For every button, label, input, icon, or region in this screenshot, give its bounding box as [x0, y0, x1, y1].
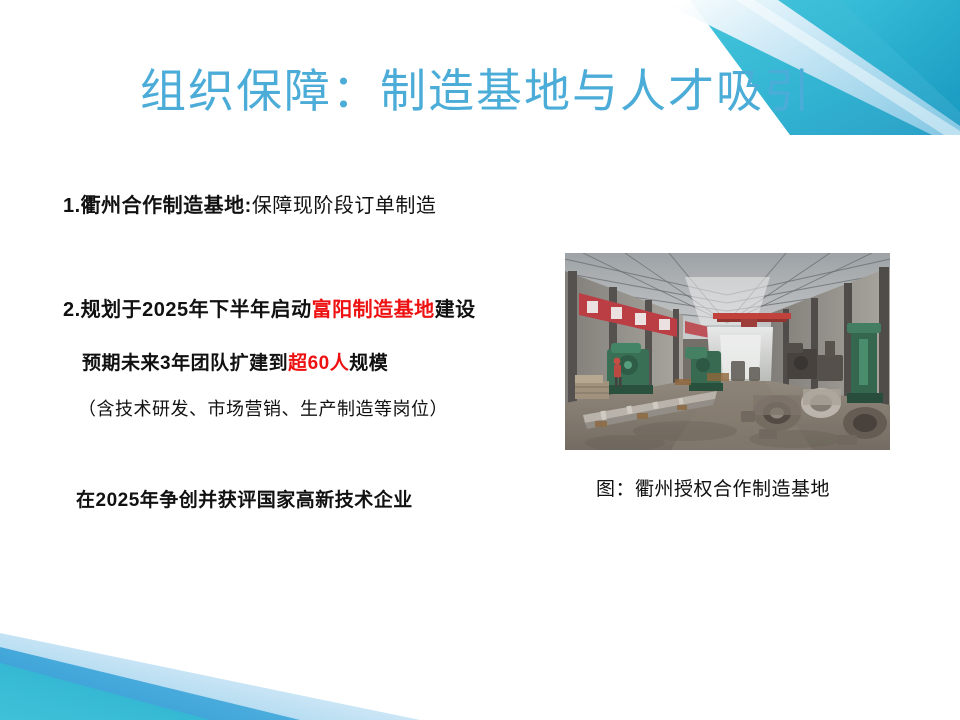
bullet-2-highlight: 富阳制造基地: [312, 299, 435, 321]
bullet-line-1: 1.衢州合作制造基地:保障现阶段订单制造: [63, 194, 436, 219]
bullet-line-4: （含技术研发、市场营销、生产制造等岗位）: [78, 398, 448, 421]
bullet-2-part-b: 建设: [435, 299, 476, 321]
photo-caption: 图：衢州授权合作制造基地: [596, 474, 830, 501]
slide-canvas: 组织保障：制造基地与人才吸引 1.衢州合作制造基地:保障现阶段订单制造 2.规划…: [0, 0, 960, 720]
bullet-1-bold-prefix: 1.衢州合作制造基地:: [63, 195, 252, 217]
factory-workshop-photo: [565, 253, 890, 450]
page-title: 组织保障：制造基地与人才吸引: [140, 64, 812, 119]
diagonal-ribbon-bottom-left-icon: [0, 585, 420, 720]
bullet-3-part-a: 预期未来3年团队扩建到: [82, 353, 288, 374]
bullet-line-3: 预期未来3年团队扩建到超60人规模: [82, 352, 388, 376]
bullet-line-5: 在2025年争创并获评国家高新技术企业: [76, 489, 413, 513]
bullet-3-part-b: 规模: [349, 353, 388, 374]
bullet-2-part-a: 2.规划于2025年下半年启动: [63, 299, 312, 321]
bullet-1-normal-rest: 保障现阶段订单制造: [252, 195, 437, 217]
bullet-3-highlight: 超60人: [288, 353, 349, 374]
bullet-line-2: 2.规划于2025年下半年启动富阳制造基地建设: [63, 298, 476, 323]
